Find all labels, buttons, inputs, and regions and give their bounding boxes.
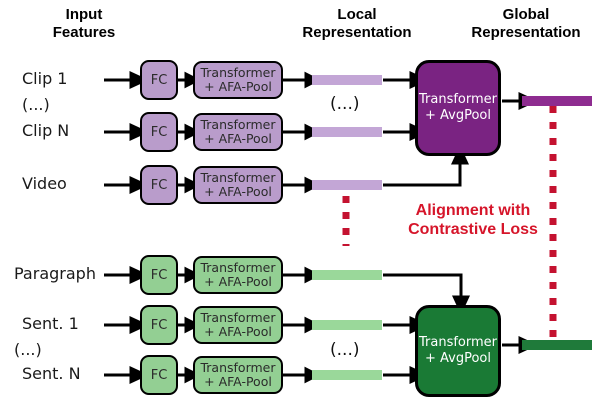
- fc-box-clip-1[interactable]: FC: [140, 60, 178, 100]
- transformer-line-2: + AFA-Pool: [204, 185, 272, 199]
- transformer-line-2: + AFA-Pool: [204, 80, 272, 94]
- transformer-line-1: Transformer: [200, 66, 275, 80]
- alignment-contrastive-loss-label: Alignment with Contrastive Loss: [388, 201, 558, 239]
- local-representation-bar-sent-1: [312, 320, 382, 330]
- transformer-line-2: + AFA-Pool: [204, 375, 272, 389]
- input-label-video: Video: [22, 174, 67, 193]
- transformer-line-1: Transformer: [200, 361, 275, 375]
- input-label-clip-1: Clip 1: [22, 69, 67, 88]
- transformer-line-2: + AFA-Pool: [204, 132, 272, 146]
- input-label-clip-n: Clip N: [22, 121, 69, 140]
- local-representation-bar-paragraph: [312, 270, 382, 280]
- local-ellipsis-text: (...): [330, 340, 359, 360]
- transformer-line-1: Transformer: [200, 311, 275, 325]
- local-representation-bar-sent-n: [312, 370, 382, 380]
- transformer-afa-pool-sent-1[interactable]: Transformer + AFA-Pool: [193, 306, 283, 344]
- column-header-input-features: Input Features: [14, 6, 154, 41]
- fc-box-clip-n[interactable]: FC: [140, 112, 178, 152]
- aggregator-line-1: Transformer: [419, 92, 497, 108]
- transformer-line-2: + AFA-Pool: [204, 275, 272, 289]
- transformer-afa-pool-clip-1[interactable]: Transformer + AFA-Pool: [193, 61, 283, 99]
- transformer-line-2: + AFA-Pool: [204, 325, 272, 339]
- aggregator-transformer-avgpool-text[interactable]: Transformer + AvgPool: [415, 305, 501, 397]
- column-header-global-representation: Global Representation: [452, 6, 600, 41]
- diagram-canvas: Input Features Local Representation Glob…: [0, 0, 600, 400]
- aggregator-line-1: Transformer: [419, 335, 497, 351]
- aggregator-line-2: + AvgPool: [425, 108, 491, 124]
- fc-box-sent-1[interactable]: FC: [140, 305, 178, 345]
- transformer-line-1: Transformer: [200, 261, 275, 275]
- global-representation-bar-text: [522, 340, 592, 350]
- local-representation-bar-video: [312, 180, 382, 190]
- input-ellipsis-video: (...): [22, 95, 50, 114]
- input-label-sent-1: Sent. 1: [22, 314, 79, 333]
- connector-layer: [0, 0, 600, 400]
- fc-box-paragraph[interactable]: FC: [140, 255, 178, 295]
- local-representation-bar-clip-n: [312, 127, 382, 137]
- input-ellipsis-text: (...): [14, 340, 42, 359]
- local-ellipsis-video: (...): [330, 94, 359, 114]
- aggregator-transformer-avgpool-video[interactable]: Transformer + AvgPool: [415, 60, 501, 156]
- transformer-afa-pool-sent-n[interactable]: Transformer + AFA-Pool: [193, 356, 283, 394]
- fc-box-video[interactable]: FC: [140, 165, 178, 205]
- transformer-line-1: Transformer: [200, 118, 275, 132]
- transformer-line-1: Transformer: [200, 171, 275, 185]
- transformer-afa-pool-clip-n[interactable]: Transformer + AFA-Pool: [193, 113, 283, 151]
- input-label-sent-n: Sent. N: [22, 364, 81, 383]
- input-label-paragraph: Paragraph: [14, 264, 96, 283]
- fc-box-sent-n[interactable]: FC: [140, 355, 178, 395]
- column-header-local-representation: Local Representation: [272, 6, 442, 41]
- local-representation-bar-clip-1: [312, 75, 382, 85]
- transformer-afa-pool-paragraph[interactable]: Transformer + AFA-Pool: [193, 256, 283, 294]
- global-representation-bar-video: [522, 96, 592, 106]
- transformer-afa-pool-video[interactable]: Transformer + AFA-Pool: [193, 166, 283, 204]
- aggregator-line-2: + AvgPool: [425, 351, 491, 367]
